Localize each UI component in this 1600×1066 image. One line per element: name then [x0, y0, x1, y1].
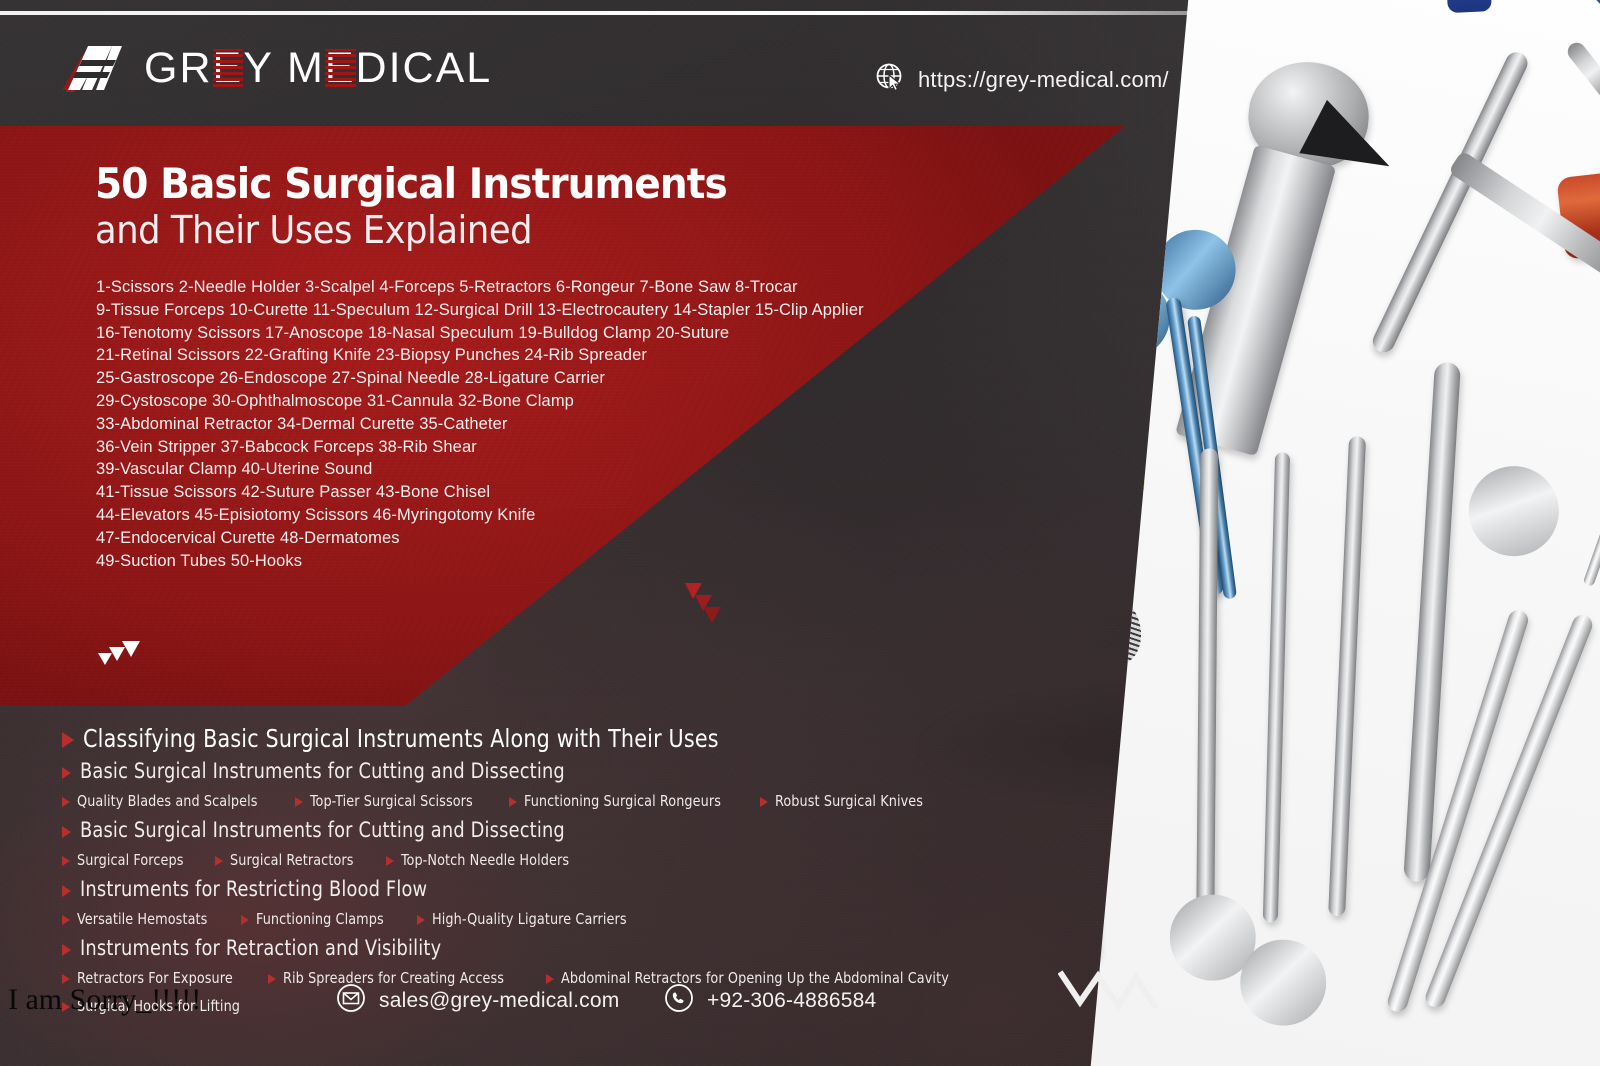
website-url-link[interactable]: https://grey-medical.com/ — [875, 62, 1169, 97]
instrument-line: 16-Tenotomy Scissors 17-Anoscope 18-Nasa… — [96, 322, 856, 345]
instrument-line: 36-Vein Stripper 37-Babcock Forceps 38-R… — [96, 436, 856, 459]
triangle-bullet-icon — [295, 797, 303, 807]
classification-item: Top-Notch Needle Holders — [386, 846, 584, 874]
classification-item-label: Surgical Forceps — [77, 846, 184, 874]
top-divider-rule — [0, 11, 1310, 15]
instrument-line: 25-Gastroscope 26-Endoscope 27-Spinal Ne… — [96, 367, 856, 390]
classification-item-label: Top-Tier Surgical Scissors — [310, 787, 473, 815]
classification-item: Versatile Hemostats — [62, 905, 219, 933]
classification-item: Surgical Retractors — [215, 846, 364, 874]
triangle-bullet-icon — [215, 856, 223, 866]
poster-title: 50 Basic Surgical Instruments and Their … — [95, 162, 774, 252]
classification-section-items: Surgical Forceps Surgical Retractors Top… — [62, 846, 1092, 874]
instrument-line: 49-Suction Tubes 50-Hooks — [96, 550, 856, 573]
three-red-triangle-arrows — [685, 583, 733, 632]
classification-main-heading-row: Classifying Basic Surgical Instruments A… — [62, 722, 1092, 756]
classification-block: Classifying Basic Surgical Instruments A… — [62, 722, 1092, 1020]
classification-item-label: High-Quality Ligature Carriers — [432, 905, 627, 933]
envelope-circle-icon — [336, 983, 366, 1018]
overlay-sorry-text: I am Sorry_!!!!! — [8, 985, 201, 1015]
instrument-line: 44-Elevators 45-Episiotomy Scissors 46-M… — [96, 504, 856, 527]
classification-section-heading: Instruments for Restricting Blood Flow — [80, 874, 427, 905]
triangle-bullet-icon — [62, 797, 70, 807]
logo-part-3: Y M — [243, 44, 325, 92]
classification-section-heading-row: Instruments for Restricting Blood Flow — [62, 874, 1092, 905]
instrument-line: 9-Tissue Forceps 10-Curette 11-Speculum … — [96, 299, 856, 322]
triangle-bullet-icon — [417, 915, 425, 925]
logo-part-1: GR — [144, 44, 213, 92]
title-line-1: 50 Basic Surgical Instruments — [95, 162, 727, 206]
header: GREY MEDICAL https://grey-medical.com/ — [0, 22, 1310, 122]
chevron-mark-icon — [58, 42, 130, 94]
classification-item-label: Functioning Surgical Rongeurs — [524, 787, 721, 815]
classification-item: Surgical Forceps — [62, 846, 193, 874]
triangle-bullet-icon — [386, 856, 394, 866]
classification-section-items: Versatile Hemostats Functioning Clamps H… — [62, 905, 1092, 933]
classification-section-heading: Basic Surgical Instruments for Cutting a… — [80, 756, 565, 787]
classification-section-heading-row: Instruments for Retraction and Visibilit… — [62, 933, 1092, 964]
classification-item: Functioning Clamps — [241, 905, 395, 933]
classification-item: Functioning Surgical Rongeurs — [509, 787, 738, 815]
classification-main-heading: Classifying Basic Surgical Instruments A… — [83, 722, 719, 756]
instrument-line: 29-Cystoscope 30-Ophthalmoscope 31-Cannu… — [96, 390, 856, 413]
instrument-line: 39-Vascular Clamp 40-Uterine Sound — [96, 458, 856, 481]
classification-section-heading-row: Basic Surgical Instruments for Cutting a… — [62, 815, 1092, 846]
instrument-line: 41-Tissue Scissors 42-Suture Passer 43-B… — [96, 481, 856, 504]
email-text: sales@grey-medical.com — [379, 989, 619, 1013]
triangle-bullet-icon — [760, 797, 768, 807]
classification-item-label: Robust Surgical Knives — [775, 787, 923, 815]
triangle-bullet-icon — [62, 856, 70, 866]
website-url-text: https://grey-medical.com/ — [918, 67, 1169, 93]
title-line-2: and Their Uses Explained — [95, 210, 727, 252]
logo-part-4: E — [325, 47, 356, 90]
phone-text: +92-306-4886584 — [707, 989, 876, 1013]
email-contact[interactable]: sales@grey-medical.com — [336, 983, 619, 1018]
classification-item: Top-Tier Surgical Scissors — [295, 787, 487, 815]
classification-section-heading: Basic Surgical Instruments for Cutting a… — [80, 815, 565, 846]
instrument-number-list: 1-Scissors 2-Needle Holder 3-Scalpel 4-F… — [96, 276, 856, 572]
triangle-bullet-icon — [241, 915, 249, 925]
instrument-line: 21-Retinal Scissors 22-Grafting Knife 23… — [96, 344, 856, 367]
triangle-bullet-icon — [509, 797, 517, 807]
classification-section-heading-row: Basic Surgical Instruments for Cutting a… — [62, 756, 1092, 787]
instrument-line: 1-Scissors 2-Needle Holder 3-Scalpel 4-F… — [96, 276, 856, 299]
phone-contact[interactable]: +92-306-4886584 — [664, 983, 876, 1018]
instrument-line: 33-Abdominal Retractor 34-Dermal Curette… — [96, 413, 856, 436]
triangle-bullet-icon — [62, 885, 71, 897]
classification-item-label: Surgical Retractors — [230, 846, 354, 874]
triangle-bullet-icon — [62, 767, 71, 779]
three-white-triangle-arrows — [98, 627, 146, 672]
classification-item-label: Top-Notch Needle Holders — [401, 846, 569, 874]
classification-section-heading: Instruments for Retraction and Visibilit… — [80, 933, 441, 964]
classification-item-label: Quality Blades and Scalpels — [77, 787, 258, 815]
logo-part-2: E — [213, 47, 244, 90]
triangle-bullet-icon — [62, 944, 71, 956]
classification-item: Quality Blades and Scalpels — [62, 787, 273, 815]
logo-text: GREY MEDICAL — [144, 47, 492, 90]
instrument-line: 47-Endocervical Curette 48-Dermatomes — [96, 527, 856, 550]
classification-item-label: Versatile Hemostats — [77, 905, 207, 933]
logo-part-5: DICAL — [356, 44, 493, 92]
classification-section-items: Quality Blades and Scalpels Top-Tier Sur… — [62, 787, 1092, 815]
triangle-bullet-icon — [62, 732, 74, 748]
logo[interactable]: GREY MEDICAL — [58, 42, 492, 94]
poster-canvas: GREY MEDICAL https://grey-medical.com/ 5… — [0, 0, 1600, 1066]
globe-cursor-icon — [875, 62, 905, 97]
classification-item: Robust Surgical Knives — [760, 787, 936, 815]
triangle-bullet-icon — [62, 915, 70, 925]
classification-item: High-Quality Ligature Carriers — [417, 905, 644, 933]
classification-item-label: Functioning Clamps — [256, 905, 384, 933]
triangle-bullet-icon — [62, 826, 71, 838]
whatsapp-phone-circle-icon — [664, 983, 694, 1018]
